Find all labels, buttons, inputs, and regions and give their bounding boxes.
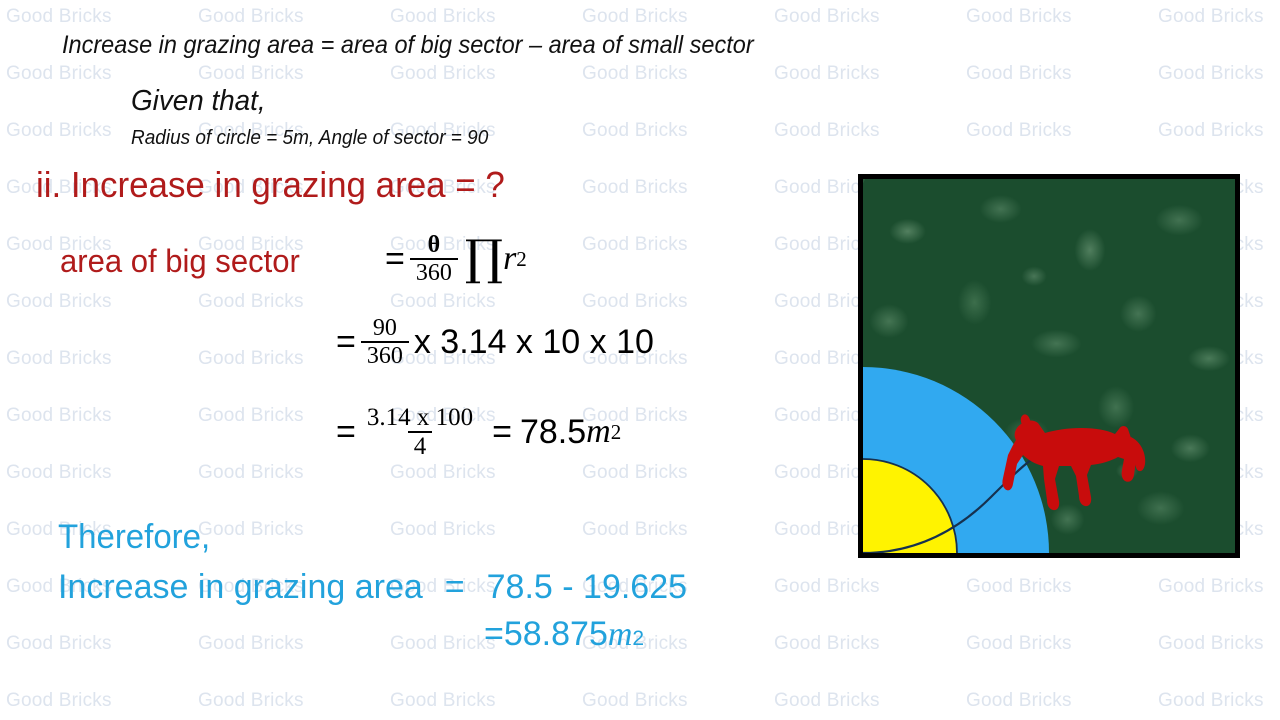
- 4-denominator: 4: [408, 431, 433, 459]
- theta-numerator: θ: [422, 233, 447, 258]
- final-answer-unit: m: [608, 616, 633, 654]
- big-sector-result-unit: m: [586, 413, 611, 451]
- big-sector-result-exponent: 2: [611, 420, 622, 445]
- final-answer-line: = 58.875 m 2: [484, 615, 644, 654]
- formula-row-2: = 90 360 x 3.14 x 10 x 10: [336, 316, 654, 368]
- final-answer-exponent: 2: [632, 627, 644, 651]
- given-label: Given that,: [131, 85, 266, 118]
- product-pi-symbol: ∏: [465, 242, 503, 276]
- final-answer-value: 58.875: [504, 615, 608, 654]
- increase-expression: 78.5 - 19.625: [487, 568, 687, 607]
- horse-ear: [1021, 414, 1031, 426]
- question-heading: ii. Increase in grazing area = ?: [36, 164, 505, 206]
- therefore-label: Therefore,: [58, 518, 210, 557]
- area-of-big-sector-label: area of big sector: [60, 243, 300, 280]
- equals-sign: =: [484, 615, 504, 654]
- big-sector-result-value: 78.5: [520, 413, 586, 452]
- 90-over-360-fraction: 90 360: [361, 316, 409, 368]
- equals-sign-2: =: [492, 413, 512, 452]
- formula-row-3: = 3.14 x 100 4 = 78.5 m 2: [336, 405, 621, 459]
- equals-sign: =: [336, 413, 356, 452]
- 90-numerator: 90: [367, 316, 403, 341]
- equals-sign: =: [385, 240, 405, 279]
- theta-over-360-fraction: θ 360: [410, 233, 458, 285]
- 360-denominator: 360: [361, 341, 409, 368]
- radius-exponent: 2: [516, 247, 527, 272]
- 360-denominator: 360: [410, 258, 458, 285]
- row2-expression: x 3.14 x 10 x 10: [414, 323, 654, 362]
- increase-statement-label: Increase in grazing area: [58, 568, 423, 607]
- 314x100-over-4-fraction: 3.14 x 100 4: [361, 405, 479, 459]
- radius-variable: r: [503, 240, 516, 278]
- formula-row-1: = θ 360 ∏ r 2: [385, 233, 527, 285]
- equals-sign: =: [336, 323, 356, 362]
- top-statement: Increase in grazing area = area of big s…: [62, 31, 754, 60]
- given-values: Radius of circle = 5m, Angle of sector =…: [131, 127, 488, 150]
- equals-sign: =: [445, 568, 465, 607]
- diagram-shapes: [863, 179, 1235, 553]
- slide-content: Increase in grazing area = area of big s…: [0, 0, 1280, 720]
- 314x100-numerator: 3.14 x 100: [361, 405, 479, 431]
- grazing-field-diagram: [858, 174, 1240, 558]
- increase-result-line: Increase in grazing area = 78.5 - 19.625: [58, 568, 687, 607]
